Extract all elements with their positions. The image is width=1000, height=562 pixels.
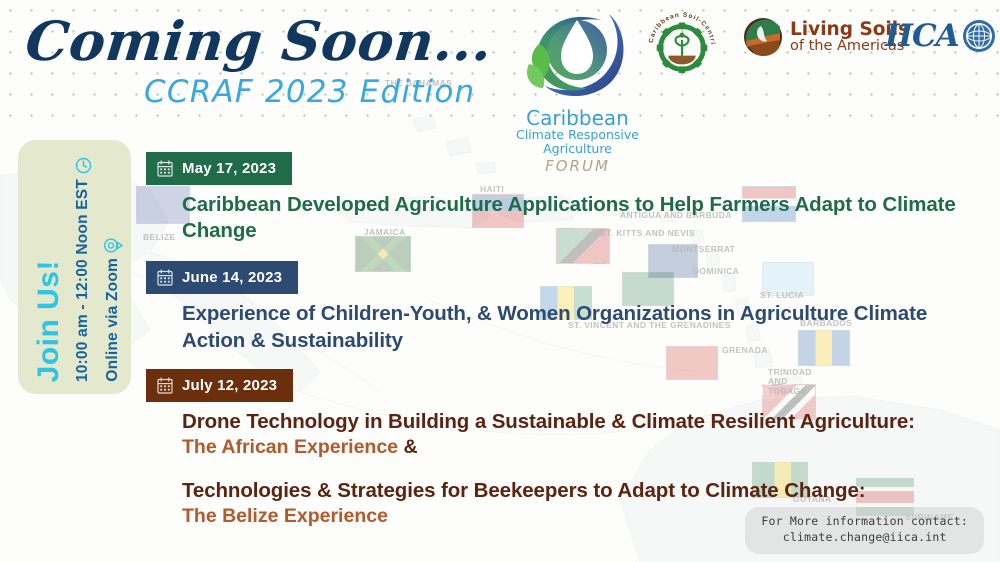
join-us-title: Join Us! xyxy=(32,260,66,382)
zoom-camera-icon xyxy=(104,238,123,253)
session-title: Experience of Children-Youth, & Women Or… xyxy=(182,301,986,353)
session-title: Technologies & Strategies for Beekeepers… xyxy=(182,478,986,504)
session-titles: Caribbean Developed Agriculture Applicat… xyxy=(146,192,986,244)
caribbean-soil-centric-actions-logo: Caribbean Soil-Centric Actions xyxy=(643,5,721,79)
contact-box: For More information contact: climate.ch… xyxy=(745,507,984,554)
join-us-platform: Online via Zoom xyxy=(104,258,122,382)
water-drop-leaf-icon xyxy=(523,2,633,110)
join-us-panel: Join Us! 10:00 am - 12:00 Noon EST Onlin… xyxy=(18,140,131,394)
session-date-text: July 12, 2023 xyxy=(182,377,277,394)
ccraf-logo-line1: Caribbean xyxy=(490,108,665,128)
coming-soon-title: Coming Soon... xyxy=(23,14,495,68)
join-us-platform-column: Online via Zoom xyxy=(104,238,123,382)
session-date-text: June 14, 2023 xyxy=(182,269,282,286)
session-subtitle: The African Experience & xyxy=(182,435,986,460)
iica-wordmark: IICA xyxy=(885,18,959,54)
headline-block: Coming Soon... CCRAF 2023 Edition xyxy=(26,14,492,110)
session-date-badge: July 12, 2023 xyxy=(146,369,293,402)
session-item: May 17, 2023 Caribbean Developed Agricul… xyxy=(146,152,986,244)
contact-line1: For More information contact: xyxy=(761,513,968,530)
session-title: Caribbean Developed Agriculture Applicat… xyxy=(182,192,986,244)
logo-bar: Caribbean Climate Responsive Agriculture… xyxy=(480,0,1000,150)
session-date-text: May 17, 2023 xyxy=(182,160,276,177)
session-subtitle-ampersand: & xyxy=(403,436,417,458)
session-date-badge: May 17, 2023 xyxy=(146,152,292,185)
calendar-icon xyxy=(157,377,173,394)
poster-canvas: THE BAHAMAS HAITI BELIZE JAMAICA ST. KIT… xyxy=(0,0,1000,562)
join-us-time: 10:00 am - 12:00 Noon EST xyxy=(74,179,92,382)
session-title: Drone Technology in Building a Sustainab… xyxy=(182,409,986,435)
join-us-time-column: 10:00 am - 12:00 Noon EST xyxy=(74,157,92,382)
calendar-icon xyxy=(157,269,173,286)
ccraf-logo: Caribbean Climate Responsive Agriculture… xyxy=(490,2,665,175)
session-list: May 17, 2023 Caribbean Developed Agricul… xyxy=(146,152,986,529)
session-subtitle-text: The African Experience xyxy=(182,436,398,458)
session-date-badge: June 14, 2023 xyxy=(146,261,298,294)
edition-subtitle: CCRAF 2023 Edition xyxy=(144,74,492,110)
session-titles: Experience of Children-Youth, & Women Or… xyxy=(146,301,986,353)
clock-icon xyxy=(75,157,92,174)
calendar-icon xyxy=(157,160,173,177)
iica-logo: IICA xyxy=(885,18,996,54)
contact-email[interactable]: climate.change@iica.int xyxy=(761,529,968,546)
join-us-title-column: Join Us! xyxy=(32,260,66,382)
session-item: July 12, 2023 Drone Technology in Buildi… xyxy=(146,369,986,529)
session-item: June 14, 2023 Experience of Children-You… xyxy=(146,261,986,353)
iica-globe-icon xyxy=(962,19,996,53)
living-soils-globe-icon xyxy=(743,17,783,57)
